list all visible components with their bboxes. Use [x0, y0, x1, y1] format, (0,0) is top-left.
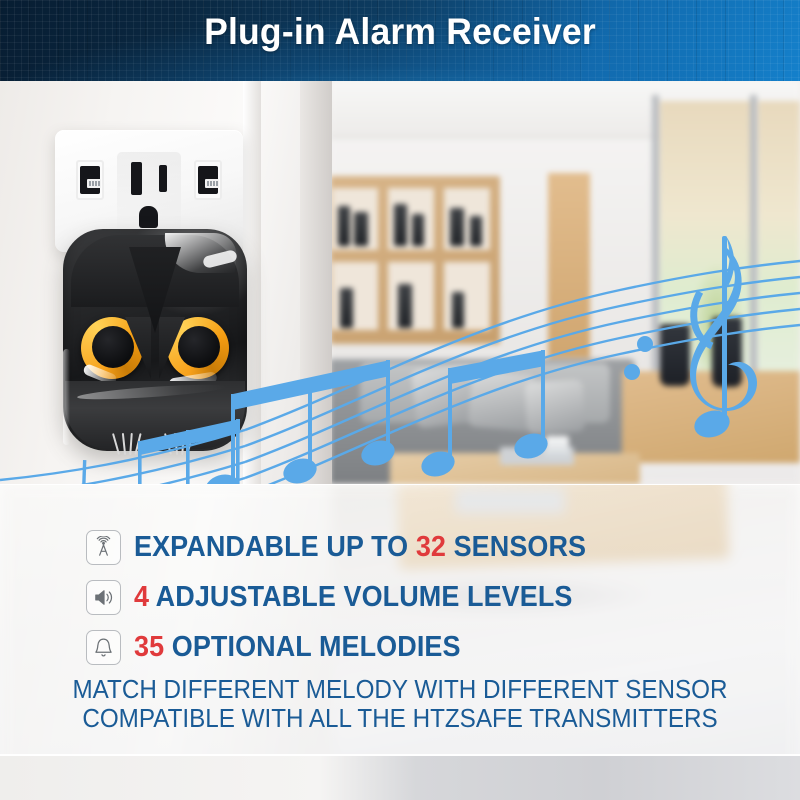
wall-corner-shadow: [300, 81, 332, 484]
owl-claw-left: [111, 429, 145, 455]
window-frame-2: [750, 95, 757, 405]
usb-port-left: [76, 160, 104, 200]
sideboard: [622, 371, 800, 463]
product-photo: [0, 81, 800, 484]
window-frame-1: [652, 95, 659, 405]
wooden-shelf-unit: [330, 176, 500, 344]
living-room-background: [330, 81, 800, 484]
owl-edge-highlight: [63, 349, 70, 445]
feature-label-sensors: EXPANDABLE UP TO 32 SENSORS: [134, 531, 586, 564]
vase-right: [712, 317, 742, 387]
tagline-line-2: COMPATIBLE WITH ALL THE HTZSAFE TRANSMIT…: [20, 705, 780, 734]
cushion-3: [525, 380, 586, 435]
panel-bg-tray: [455, 488, 565, 514]
product-infographic: Plug-in Alarm Receiver: [0, 0, 800, 800]
tagline-line-1: MATCH DIFFERENT MELODY WITH DIFFERENT SE…: [20, 676, 780, 705]
bottom-strip: [0, 756, 800, 800]
usb-port-right: [194, 160, 222, 200]
interior-wall: [0, 81, 332, 484]
feature-row-volume: 4 ADJUSTABLE VOLUME LEVELS: [86, 580, 606, 615]
window-right: [758, 101, 800, 401]
signal-antenna-icon: [86, 530, 121, 565]
feature-row-sensors: EXPANDABLE UP TO 32 SENSORS: [86, 530, 620, 565]
feature-label-melodies: 35 OPTIONAL MELODIES: [134, 631, 461, 664]
divider-top: [0, 484, 800, 485]
door-panel: [548, 173, 590, 358]
tagline: MATCH DIFFERENT MELODY WITH DIFFERENT SE…: [0, 676, 800, 734]
feature-row-melodies: 35 OPTIONAL MELODIES: [86, 630, 485, 665]
glassware: [545, 436, 569, 458]
owl-alarm-receiver: [63, 229, 247, 451]
ac-slot-hot: [159, 165, 167, 192]
feature-label-volume: 4 ADJUSTABLE VOLUME LEVELS: [134, 581, 572, 614]
vase-left: [660, 324, 690, 386]
page-title: Plug-in Alarm Receiver: [16, 11, 784, 53]
bell-icon: [86, 630, 121, 665]
speaker-volume-icon: [86, 580, 121, 615]
owl-claw-right: [163, 429, 197, 455]
ac-slot-neutral: [131, 162, 142, 195]
header-banner: Plug-in Alarm Receiver: [0, 0, 800, 81]
ac-slot-ground: [139, 206, 158, 228]
